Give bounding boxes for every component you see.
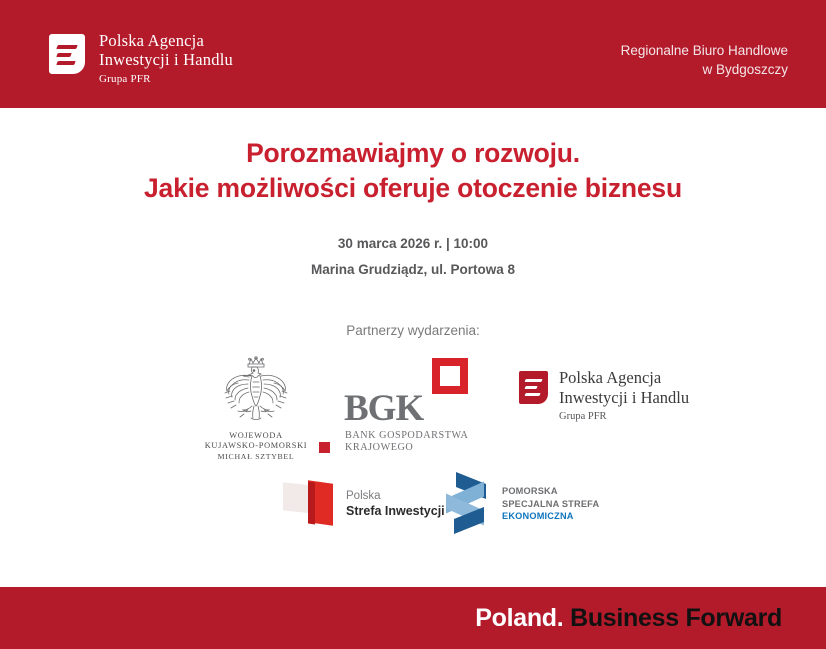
event-details: 30 marca 2026 r. | 10:00 Marina Grudziąd… (0, 231, 826, 283)
bgk-fullname-line1: BANK GOSPODARSTWA (345, 430, 468, 442)
partners-row-primary: WOJEWODA KUJAWSKO-POMORSKI MICHAŁ SZTYBE… (0, 356, 826, 466)
bgk-accent-square-icon (319, 442, 330, 453)
wojewoda-caption-line2: KUJAWSKO-POMORSKI (190, 441, 322, 451)
psse-line1: POMORSKA (502, 485, 599, 498)
regional-office-label: Regionalne Biuro Handlowe w Bydgoszczy (621, 41, 788, 79)
event-datetime: 30 marca 2026 r. | 10:00 (0, 231, 826, 257)
footer-claim-black: Business Forward (570, 604, 782, 632)
footer-bar: Poland. Business Forward (0, 587, 826, 649)
partner-logo-wojewoda: WOJEWODA KUJAWSKO-POMORSKI MICHAŁ SZTYBE… (190, 356, 322, 462)
partner-logo-polska-strefa-inwestycji: Polska Strefa Inwestycji (283, 480, 445, 528)
wojewoda-caption-line1: WOJEWODA (190, 431, 322, 441)
partners-row-secondary: Polska Strefa Inwestycji POMORSKA SPECJA… (0, 478, 826, 538)
paih-partner-line1: Polska Agencja (559, 368, 689, 388)
psi-text: Polska Strefa Inwestycji (346, 489, 445, 519)
paih-header-logo-text: Polska Agencja Inwestycji i Handlu Grupa… (99, 31, 233, 87)
wojewoda-caption: WOJEWODA KUJAWSKO-POMORSKI MICHAŁ SZTYBE… (190, 431, 322, 462)
paih-logo-line1: Polska Agencja (99, 31, 233, 50)
paih-header-logo: Polska Agencja Inwestycji i Handlu Grupa… (49, 31, 233, 87)
bgk-acronym: BGK (344, 390, 423, 427)
paih-partner-line3: Grupa PFR (559, 409, 689, 424)
paih-logo-line2: Inwestycji i Handlu (99, 50, 233, 69)
psi-line1: Polska (346, 489, 445, 504)
bgk-fullname-line2: KRAJOWEGO (345, 442, 468, 454)
psi-line2: Strefa Inwestycji (346, 504, 445, 519)
paih-partner-text: Polska Agencja Inwestycji i Handlu Grupa… (559, 368, 689, 424)
header-bar: Polska Agencja Inwestycji i Handlu Grupa… (0, 0, 826, 108)
bgk-square-icon (432, 358, 468, 394)
footer-claim-white: Poland. (475, 604, 563, 632)
title-line-2: Jakie możliwości oferuje otoczenie bizne… (0, 171, 826, 206)
paih-stripes-icon (49, 34, 85, 74)
title-line-1: Porozmawiajmy o rozwoju. (0, 136, 826, 171)
psse-line2: SPECJALNA STREFA (502, 498, 599, 511)
event-venue: Marina Grudziądz, ul. Portowa 8 (0, 257, 826, 283)
psse-zigzag-icon (442, 478, 492, 530)
psi-folded-page-icon (283, 480, 335, 528)
page-title: Porozmawiajmy o rozwoju. Jakie możliwośc… (0, 136, 826, 206)
event-invitation-slide: Polska Agencja Inwestycji i Handlu Grupa… (0, 0, 826, 649)
polish-eagle-coat-of-arms-icon (208, 356, 304, 428)
bgk-fullname: BANK GOSPODARSTWA KRAJOWEGO (345, 430, 468, 453)
paih-stripes-icon (519, 371, 548, 404)
wojewoda-caption-line3: MICHAŁ SZTYBEL (190, 452, 322, 462)
office-line-1: Regionalne Biuro Handlowe (621, 41, 788, 60)
footer-claim: Poland. Business Forward (475, 602, 782, 634)
paih-partner-line2: Inwestycji i Handlu (559, 388, 689, 408)
partner-logo-psse: POMORSKA SPECJALNA STREFA EKONOMICZNA (442, 478, 599, 530)
partner-logo-paih: Polska Agencja Inwestycji i Handlu Grupa… (519, 368, 689, 424)
paih-logo-line3: Grupa PFR (99, 71, 233, 87)
psse-text: POMORSKA SPECJALNA STREFA EKONOMICZNA (502, 485, 599, 523)
office-line-2: w Bydgoszczy (621, 60, 788, 79)
psse-line3: EKONOMICZNA (502, 510, 599, 523)
partners-heading: Partnerzy wydarzenia: (0, 323, 826, 338)
